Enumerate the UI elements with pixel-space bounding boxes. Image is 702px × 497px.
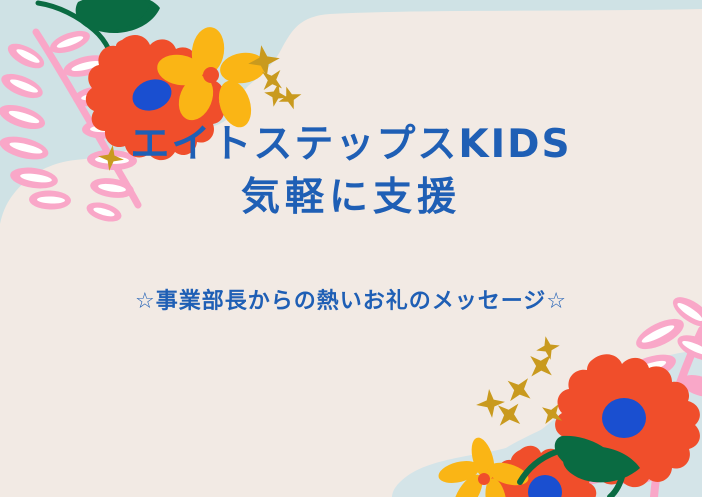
promotional-banner: エイトステップスKIDS 気軽に支援 ☆事業部長からの熱いお礼のメッセージ☆ xyxy=(0,0,702,497)
decorative-artwork xyxy=(0,0,702,497)
flower-center xyxy=(602,398,646,438)
flower-center xyxy=(203,67,219,83)
flower-center xyxy=(478,473,490,485)
